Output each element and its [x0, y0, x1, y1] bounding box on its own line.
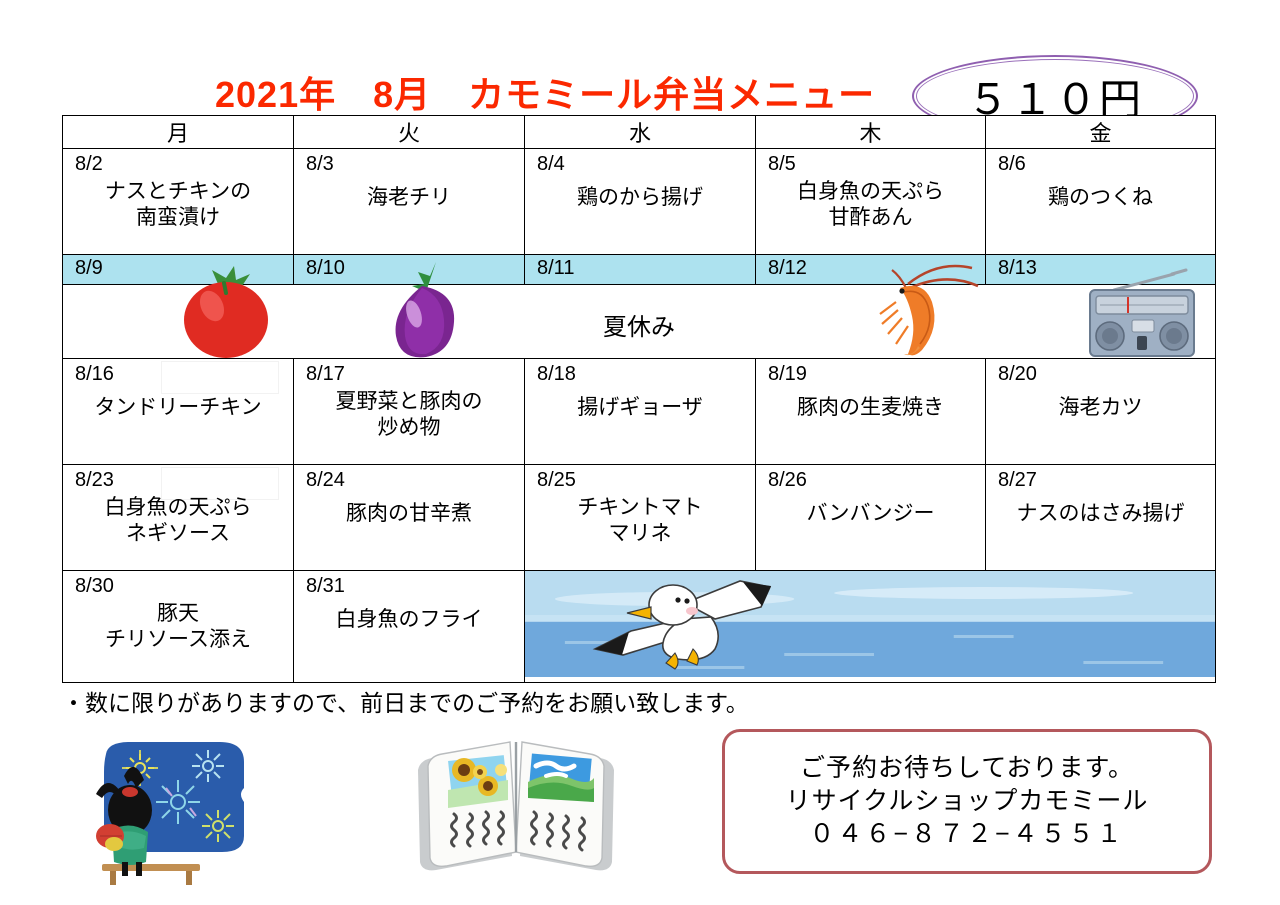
day-dish: 豚肉の生麦焼き: [756, 395, 985, 421]
weekday-header-mon: 月: [63, 116, 294, 149]
day-dish: ナスとチキンの南蛮漬け: [63, 179, 293, 230]
weekday-header-tue: 火: [294, 116, 525, 149]
day-dish: 鶏のから揚げ: [525, 185, 755, 211]
day-cell: 8/9: [63, 255, 294, 285]
day-cell: 8/17 夏野菜と豚肉の炒め物: [294, 359, 525, 465]
day-date: 8/16: [75, 363, 114, 385]
table-row: 8/30 豚天チリソース添え 8/31 白身魚のフライ: [63, 571, 1216, 683]
day-date: 8/20: [998, 363, 1037, 385]
day-date: 8/25: [537, 469, 576, 491]
day-date: 8/24: [306, 469, 345, 491]
white-patch-artifact: [161, 361, 279, 394]
weekday-header-wed: 水: [525, 116, 756, 149]
menu-poster: 2021年 8月 カモミール弁当メニュー ５１０円 月 火 水 木 金 8/2 …: [0, 0, 1280, 905]
day-date: 8/30: [75, 575, 114, 597]
day-dish: 豚肉の甘辛煮: [294, 501, 524, 527]
menu-calendar: 月 火 水 木 金 8/2 ナスとチキンの南蛮漬け 8/3 海老チリ 8/4: [62, 115, 1216, 683]
day-date: 8/18: [537, 363, 576, 385]
table-row: 8/16 タンドリーチキン 8/17 夏野菜と豚肉の炒め物 8/18 揚げギョー…: [63, 359, 1216, 465]
day-date: 8/9: [75, 257, 103, 279]
day-cell: 8/13: [986, 255, 1216, 285]
day-date: 8/3: [306, 153, 334, 175]
day-dish: 夏野菜と豚肉の炒め物: [294, 389, 524, 440]
day-cell: 8/5 白身魚の天ぷら甘酢あん: [756, 149, 986, 255]
day-dish: 海老カツ: [986, 395, 1215, 421]
day-dish: 豚天チリソース添え: [63, 601, 293, 652]
day-date: 8/13: [998, 257, 1037, 279]
day-date: 8/17: [306, 363, 345, 385]
day-cell: 8/26 バンバンジー: [756, 465, 986, 571]
table-row: 8/2 ナスとチキンの南蛮漬け 8/3 海老チリ 8/4 鶏のから揚げ 8/5 …: [63, 149, 1216, 255]
day-date: 8/6: [998, 153, 1026, 175]
day-cell: 8/6 鶏のつくね: [986, 149, 1216, 255]
day-cell: 8/24 豚肉の甘辛煮: [294, 465, 525, 571]
table-row: 8/23 白身魚の天ぷらネギソース 8/24 豚肉の甘辛煮 8/25 チキントマ…: [63, 465, 1216, 571]
reservation-note: ・数に限りがありますので、前日までのご予約をお願い致します。: [62, 684, 749, 718]
day-date: 8/23: [75, 469, 114, 491]
open-photo-album-icon: [406, 730, 626, 885]
day-cell: 8/27 ナスのはさみ揚げ: [986, 465, 1216, 571]
day-dish: 海老チリ: [294, 185, 524, 211]
day-cell: 8/12: [756, 255, 986, 285]
page-title: 2021年 8月 カモミール弁当メニュー: [215, 66, 875, 118]
day-cell: 8/16 タンドリーチキン: [63, 359, 294, 465]
table-row: 夏休み: [63, 285, 1216, 359]
day-date: 8/4: [537, 153, 565, 175]
day-dish: 白身魚の天ぷら甘酢あん: [756, 179, 985, 230]
weekday-header-row: 月 火 水 木 金: [63, 116, 1216, 149]
day-cell: 8/20 海老カツ: [986, 359, 1216, 465]
header: 2021年 8月 カモミール弁当メニュー ５１０円: [0, 28, 1280, 108]
fireworks-girl-icon: [78, 736, 268, 886]
contact-line-1: ご予約お待ちしております。: [800, 752, 1134, 785]
day-dish: 白身魚のフライ: [294, 607, 524, 633]
day-date: 8/2: [75, 153, 103, 175]
contact-shop-name: リサイクルショップカモミール: [786, 785, 1149, 818]
day-cell: 8/30 豚天チリソース添え: [63, 571, 294, 683]
contact-phone: ０４６−８７２−４５５１: [809, 818, 1124, 851]
seagull-over-sea-icon: [525, 571, 1215, 677]
day-date: 8/26: [768, 469, 807, 491]
day-date: 8/31: [306, 575, 345, 597]
day-cell: 8/2 ナスとチキンの南蛮漬け: [63, 149, 294, 255]
day-date: 8/5: [768, 153, 796, 175]
day-dish: ナスのはさみ揚げ: [986, 501, 1215, 527]
day-cell: 8/11: [525, 255, 756, 285]
day-cell: 8/3 海老チリ: [294, 149, 525, 255]
day-date: 8/12: [768, 257, 807, 279]
day-cell: 8/18 揚げギョーザ: [525, 359, 756, 465]
day-cell: 8/23 白身魚の天ぷらネギソース: [63, 465, 294, 571]
table-row: 8/9 8/10 8/11 8/12 8/13: [63, 255, 1216, 285]
day-date: 8/10: [306, 257, 345, 279]
day-dish: 鶏のつくね: [986, 185, 1215, 211]
day-dish: 揚げギョーザ: [525, 395, 755, 421]
day-cell: 8/10: [294, 255, 525, 285]
seagull-sea-image-cell: [525, 571, 1216, 683]
day-date: 8/27: [998, 469, 1037, 491]
day-date: 8/11: [537, 257, 574, 279]
day-cell: 8/4 鶏のから揚げ: [525, 149, 756, 255]
contact-box: ご予約お待ちしております。 リサイクルショップカモミール ０４６−８７２−４５５…: [722, 729, 1212, 874]
day-dish: 白身魚の天ぷらネギソース: [63, 495, 293, 546]
summer-break-label: 夏休み: [63, 307, 1215, 342]
day-dish: バンバンジー: [756, 501, 985, 527]
day-cell: 8/31 白身魚のフライ: [294, 571, 525, 683]
weekday-header-fri: 金: [986, 116, 1216, 149]
summer-break-cell: 夏休み: [63, 285, 1216, 359]
day-dish: チキントマトマリネ: [525, 495, 755, 546]
day-cell: 8/19 豚肉の生麦焼き: [756, 359, 986, 465]
day-dish: タンドリーチキン: [63, 395, 293, 421]
day-date: 8/19: [768, 363, 807, 385]
day-cell: 8/25 チキントマトマリネ: [525, 465, 756, 571]
weekday-header-thu: 木: [756, 116, 986, 149]
